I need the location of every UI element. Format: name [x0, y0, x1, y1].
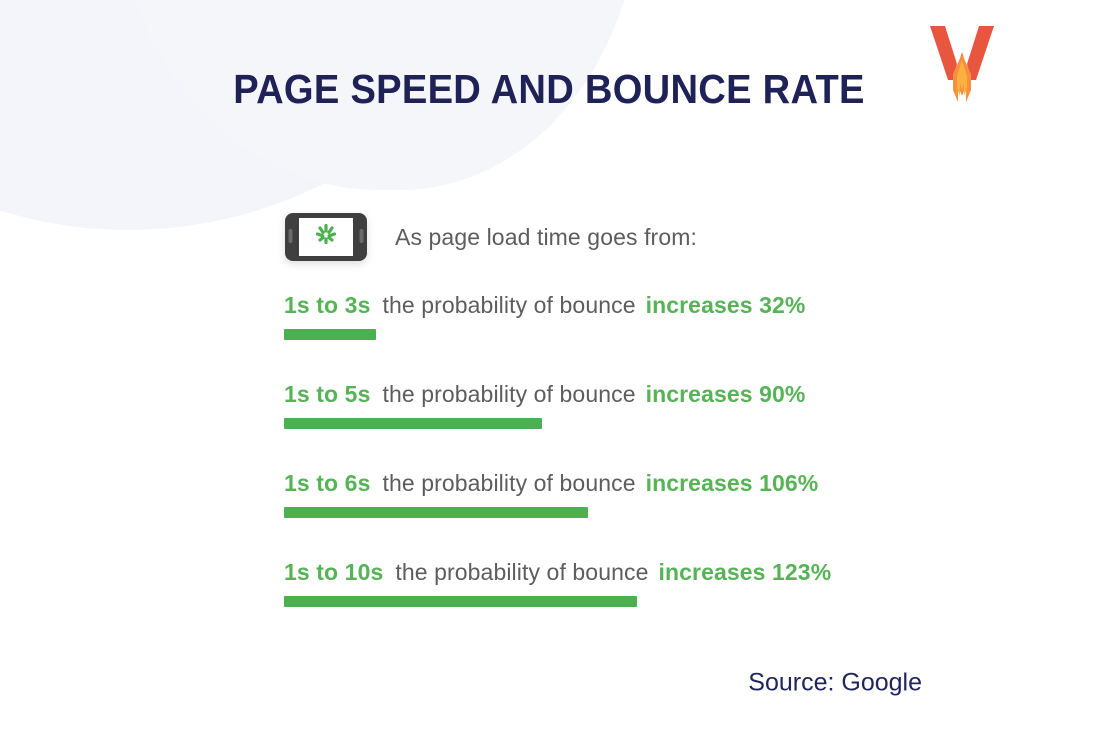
stat-row: 1s to 6s the probability of bounce incre… [284, 470, 1044, 559]
stat-line: 1s to 10s the probability of bounce incr… [284, 559, 1044, 586]
background-decoration-blob [0, 0, 530, 230]
stat-description: the probability of bounce [382, 470, 635, 497]
page-title: PAGE SPEED AND BOUNCE RATE [38, 66, 1059, 113]
bar-fill [284, 596, 637, 607]
stat-line: 1s to 6s the probability of bounce incre… [284, 470, 1044, 497]
stat-description: the probability of bounce [395, 559, 648, 586]
stat-range-label: 1s to 10s [284, 559, 383, 586]
stat-increase-value: increases 32% [646, 292, 806, 319]
source-attribution: Source: Google [748, 669, 922, 698]
bar-track [284, 507, 1044, 518]
bar-fill [284, 507, 588, 518]
stat-range-label: 1s to 5s [284, 381, 370, 408]
intro-row: As page load time goes from: [283, 211, 697, 263]
stat-range-label: 1s to 6s [284, 470, 370, 497]
bar-track [284, 596, 1044, 607]
bar-track [284, 418, 1044, 429]
infographic-canvas: PAGE SPEED AND BOUNCE RATE [0, 0, 1098, 732]
stat-range-label: 1s to 3s [284, 292, 370, 319]
stat-increase-value: increases 123% [658, 559, 831, 586]
stat-row: 1s to 10s the probability of bounce incr… [284, 559, 1044, 648]
mobile-phone-loading-icon [283, 211, 369, 263]
stat-line: 1s to 5s the probability of bounce incre… [284, 381, 1044, 408]
wp-rocket-logo [926, 24, 998, 106]
bar-fill [284, 329, 376, 340]
stat-line: 1s to 3s the probability of bounce incre… [284, 292, 1044, 319]
stat-description: the probability of bounce [382, 381, 635, 408]
stat-row: 1s to 3s the probability of bounce incre… [284, 292, 1044, 381]
stat-increase-value: increases 106% [646, 470, 819, 497]
stat-row: 1s to 5s the probability of bounce incre… [284, 381, 1044, 470]
bar-fill [284, 418, 542, 429]
bar-track [284, 329, 1044, 340]
stat-increase-value: increases 90% [646, 381, 806, 408]
stat-rows: 1s to 3s the probability of bounce incre… [284, 292, 1044, 648]
intro-text: As page load time goes from: [395, 224, 697, 251]
stat-description: the probability of bounce [382, 292, 635, 319]
